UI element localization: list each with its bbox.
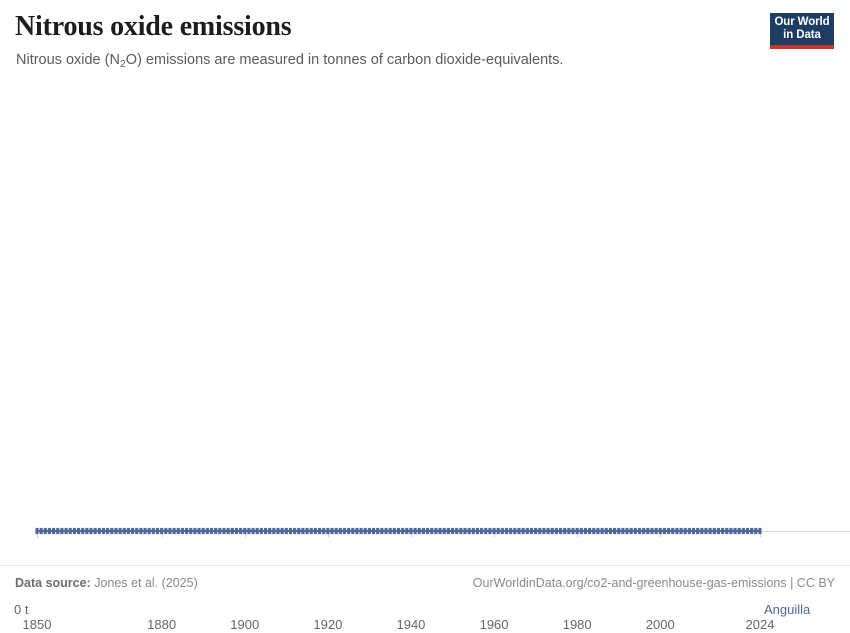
subtitle-pre: Nitrous oxide (N <box>16 52 120 68</box>
data-source-value: Jones et al. (2025) <box>94 576 198 590</box>
subtitle-subscript: 2 <box>120 58 126 70</box>
x-axis-tick-1940: 1940 <box>396 617 425 633</box>
chart-header: Nitrous oxide emissions Nitrous oxide (N… <box>0 0 850 78</box>
owid-logo-line1: Our World <box>774 16 829 29</box>
x-axis-tick-1850: 1850 <box>23 617 52 633</box>
attribution-link[interactable]: OurWorldinData.org/co2-and-greenhouse-ga… <box>473 576 835 591</box>
line-chart-svg[interactable] <box>0 78 850 560</box>
y-axis-zero-label: 0 t <box>14 602 28 617</box>
x-axis-tick-1880: 1880 <box>147 617 176 633</box>
subtitle-post: O) emissions are measured in tonnes of c… <box>126 52 564 68</box>
chart-footer: Data source: Jones et al. (2025) OurWorl… <box>0 565 850 600</box>
data-source: Data source: Jones et al. (2025) <box>15 576 198 591</box>
x-axis-tick-2024: 2024 <box>746 617 775 633</box>
page-title: Nitrous oxide emissions <box>15 10 291 44</box>
data-source-label: Data source: <box>15 576 91 590</box>
x-axis-tick-1980: 1980 <box>563 617 592 633</box>
chart-plot-area[interactable]: 0 t Anguilla 185018801900192019401960198… <box>0 78 850 560</box>
x-axis-tick-1900: 1900 <box>230 617 259 633</box>
series-label-anguilla[interactable]: Anguilla <box>764 602 810 617</box>
chart-subtitle: Nitrous oxide (N2O) emissions are measur… <box>16 51 563 71</box>
x-axis-tick-1960: 1960 <box>480 617 509 633</box>
owid-logo[interactable]: Our World in Data <box>770 13 834 49</box>
x-axis-tick-1920: 1920 <box>313 617 342 633</box>
x-axis-tick-2000: 2000 <box>646 617 675 633</box>
owid-logo-line2: in Data <box>783 29 821 42</box>
